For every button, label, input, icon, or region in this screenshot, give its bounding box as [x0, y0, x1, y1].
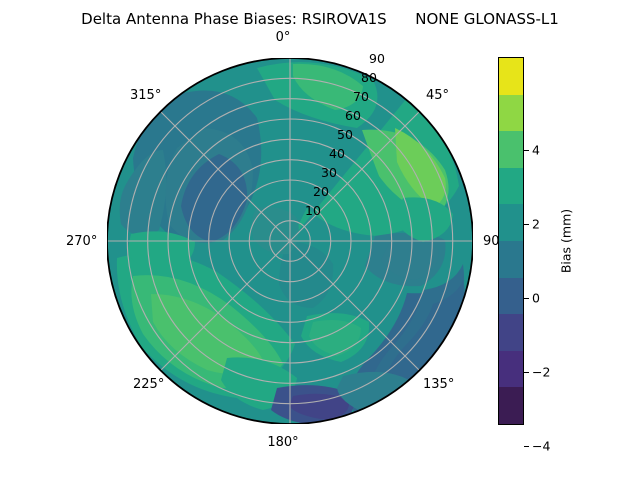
colorbar-band-5	[499, 241, 523, 278]
polar-plot-area	[107, 58, 473, 424]
colorbar-band-2	[499, 131, 523, 168]
radial-label-50: 50	[337, 127, 353, 142]
figure-canvas: Delta Antenna Phase Biases: RSIROVA1S NO…	[0, 0, 640, 480]
radial-label-70: 70	[353, 89, 369, 104]
colorbar-tick-2	[524, 224, 529, 225]
colorbar-ticklabel-neg4: −4	[532, 439, 550, 454]
colorbar-band-7	[499, 314, 523, 351]
colorbar-band-4	[499, 204, 523, 241]
colorbar-ticklabel-2: 2	[532, 217, 540, 232]
radial-label-20: 20	[313, 184, 329, 199]
angular-label-0: 0°	[276, 30, 291, 45]
angular-label-135: 135°	[423, 377, 454, 392]
polar-contour-svg	[107, 58, 473, 424]
colorbar-gradient	[498, 57, 524, 425]
radial-label-80: 80	[361, 70, 377, 85]
colorbar-tick-0	[524, 298, 529, 299]
colorbar-tick-4	[524, 150, 529, 151]
figure-title: Delta Antenna Phase Biases: RSIROVA1S NO…	[0, 10, 640, 28]
colorbar-band-0	[499, 58, 523, 95]
colorbar-ticklabel-0: 0	[532, 291, 540, 306]
colorbar-band-9	[499, 387, 523, 424]
radial-label-40: 40	[329, 146, 345, 161]
radial-label-10: 10	[305, 203, 321, 218]
colorbar-band-8	[499, 351, 523, 388]
colorbar-band-1	[499, 95, 523, 132]
angular-label-270: 270°	[66, 234, 97, 249]
colorbar-ticklabel-neg2: −2	[532, 365, 550, 380]
angular-label-315: 315°	[130, 88, 161, 103]
colorbar-band-3	[499, 168, 523, 205]
angular-label-180: 180°	[267, 435, 298, 450]
colorbar-ticklabel-4: 4	[532, 143, 540, 158]
radial-label-30: 30	[321, 165, 337, 180]
colorbar-band-6	[499, 278, 523, 315]
radial-label-60: 60	[345, 108, 361, 123]
polar-grid-spokes	[107, 58, 473, 424]
colorbar-tick-neg2	[524, 372, 529, 373]
angular-label-225: 225°	[133, 377, 164, 392]
angular-label-45: 45°	[426, 88, 449, 103]
colorbar-axis-label: Bias (mm)	[559, 209, 574, 273]
colorbar: 4 2 0 −2 −4	[498, 57, 524, 425]
radial-label-90: 90	[369, 51, 385, 66]
colorbar-tick-neg4	[524, 446, 529, 447]
